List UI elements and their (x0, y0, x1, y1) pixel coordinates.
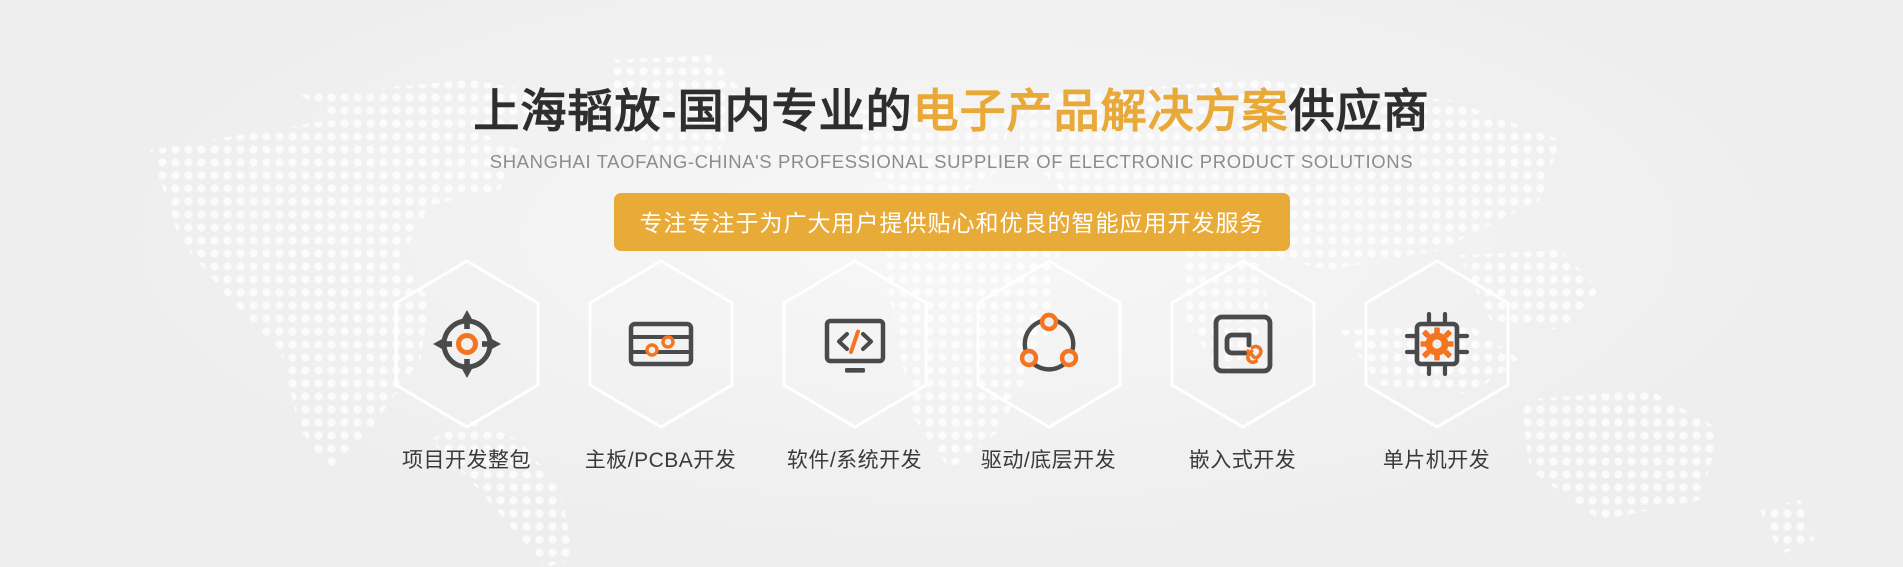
headline-block: 上海韬放-国内专业的电子产品解决方案供应商 SHANGHAI TAOFANG-C… (0, 86, 1903, 251)
headline-tail: 供应商 (1289, 85, 1430, 137)
service-item-project-package[interactable]: 项目开发整包 (391, 258, 543, 474)
badge-row: 专注专注于为广大用户提供贴心和优良的智能应用开发服务 (0, 193, 1903, 251)
pcb-board-icon (624, 307, 698, 381)
service-item-mcu[interactable]: 单片机开发 (1361, 258, 1513, 474)
monitor-code-icon (818, 307, 892, 381)
headline-lead: 上海韬放-国内专业的 (473, 85, 912, 137)
subtitle-english: SHANGHAI TAOFANG-CHINA'S PROFESSIONAL SU… (0, 151, 1903, 173)
service-label: 驱动/底层开发 (981, 444, 1116, 474)
service-label: 嵌入式开发 (1189, 444, 1297, 474)
service-label: 软件/系统开发 (787, 444, 922, 474)
service-label: 项目开发整包 (402, 444, 531, 474)
hexagon-frame (587, 258, 735, 430)
hexagon-frame (1363, 258, 1511, 430)
service-label: 单片机开发 (1383, 444, 1491, 474)
tagline-badge: 专注专注于为广大用户提供贴心和优良的智能应用开发服务 (614, 193, 1290, 251)
service-item-pcba[interactable]: 主板/PCBA开发 (585, 258, 737, 474)
hexagon-frame (781, 258, 929, 430)
headline-accent: 电子产品解决方案 (913, 85, 1289, 137)
service-item-embedded[interactable]: 嵌入式开发 (1167, 258, 1319, 474)
crosshair-target-icon (430, 307, 504, 381)
service-list: 项目开发整包 (0, 258, 1903, 474)
hero-banner: 上海韬放-国内专业的电子产品解决方案供应商 SHANGHAI TAOFANG-C… (0, 0, 1903, 567)
node-ring-icon (1012, 307, 1086, 381)
page-title: 上海韬放-国内专业的电子产品解决方案供应商 (0, 86, 1903, 137)
hexagon-frame (975, 258, 1123, 430)
service-item-software[interactable]: 软件/系统开发 (779, 258, 931, 474)
mcu-gear-icon (1400, 307, 1474, 381)
service-label: 主板/PCBA开发 (585, 444, 737, 474)
hexagon-frame (1169, 258, 1317, 430)
service-item-driver[interactable]: 驱动/底层开发 (973, 258, 1125, 474)
embedded-link-icon (1206, 307, 1280, 381)
hexagon-frame (393, 258, 541, 430)
